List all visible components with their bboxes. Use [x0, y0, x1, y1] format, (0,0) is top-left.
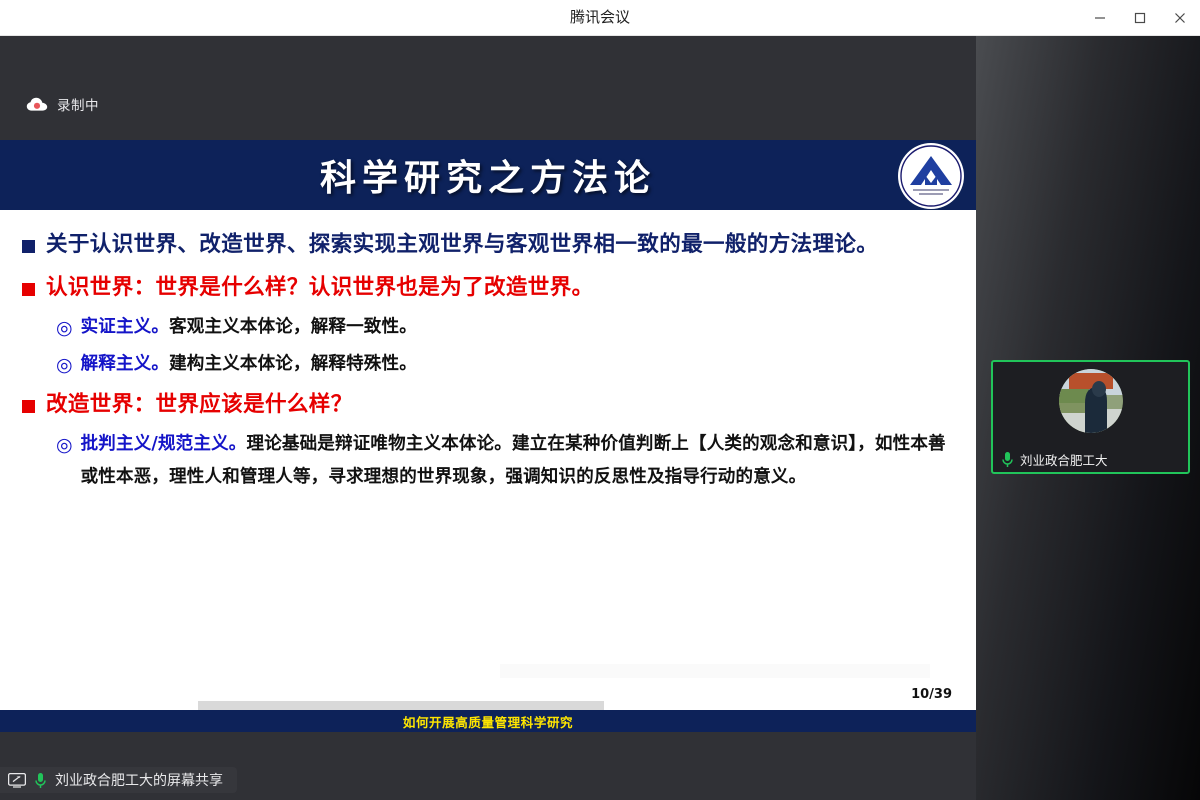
ring-bullet-icon: ◎ [56, 348, 73, 383]
slide-page-number: 10/39 [911, 687, 952, 702]
slide-header: 科学研究之方法论 [0, 140, 976, 212]
slide-title: 科学研究之方法论 [320, 149, 656, 201]
ring-bullet-icon: ◎ [56, 428, 73, 463]
slide-subbullet-text: 实证主义。客观主义本体论，解释一致性。 [81, 311, 417, 343]
title-bar: 腾讯会议 [0, 0, 1200, 36]
slide-bullet: 关于认识世界、改造世界、探索实现主观世界与客观世界相一致的最一般的方法理论。 [22, 226, 954, 264]
subbullet-highlight: 解释主义。 [81, 354, 170, 374]
recording-label: 录制中 [57, 94, 99, 114]
slide-subbullet: ◎ 批判主义/规范主义。理论基础是辩证唯物主义本体论。建立在某种价值判断上【人类… [56, 428, 954, 493]
slide-subbullet-text: 批判主义/规范主义。理论基础是辩证唯物主义本体论。建立在某种价值判断上【人类的观… [81, 428, 954, 493]
slide-footer-text: 如何开展高质量管理科学研究 [403, 712, 573, 731]
screen-share-icon [8, 773, 26, 788]
slide-artifact-bar [500, 664, 930, 678]
bullet-square-icon [22, 226, 35, 247]
shared-screen-region[interactable]: 录制中 科学研究之方法论 [0, 36, 976, 800]
subbullet-rest: 客观主义本体论，解释一致性。 [169, 317, 417, 337]
screen-share-strip[interactable]: 刘业政合肥工大的屏幕共享 [0, 767, 237, 793]
recording-indicator: 录制中 [26, 94, 99, 114]
participant-video-tile[interactable]: 刘业政合肥工大 [991, 360, 1190, 474]
cloud-record-icon [26, 97, 48, 112]
avatar [1059, 369, 1123, 433]
participant-name: 刘业政合肥工大 [1020, 450, 1108, 469]
slide-footer: 如何开展高质量管理科学研究 [0, 710, 976, 732]
maximize-button[interactable] [1120, 0, 1160, 36]
meeting-body: 录制中 科学研究之方法论 [0, 36, 1200, 800]
microphone-icon [34, 772, 47, 789]
slide-bullet-text: 改造世界：世界应该是什么样？ [46, 386, 353, 424]
window-controls [1080, 0, 1200, 36]
slide-subbullet: ◎ 实证主义。客观主义本体论，解释一致性。 [56, 311, 954, 346]
bullet-square-icon [22, 386, 35, 407]
participant-tile-footer: 刘业政合肥工大 [993, 450, 1108, 469]
tencent-meeting-window: 腾讯会议 [0, 0, 1200, 800]
microphone-icon [1001, 451, 1014, 468]
slide-bullet: 认识世界：世界是什么样？认识世界也是为了改造世界。 [22, 269, 954, 307]
university-logo-icon [898, 143, 964, 209]
slide-subbullet: ◎ 解释主义。建构主义本体论，解释特殊性。 [56, 348, 954, 383]
close-button[interactable] [1160, 0, 1200, 36]
bullet-square-icon [22, 269, 35, 290]
slide-body: 关于认识世界、改造世界、探索实现主观世界与客观世界相一致的最一般的方法理论。 认… [0, 212, 976, 732]
slide-bullet-text: 认识世界：世界是什么样？认识世界也是为了改造世界。 [46, 269, 594, 307]
ring-bullet-icon: ◎ [56, 311, 73, 346]
subbullet-rest: 建构主义本体论，解释特殊性。 [169, 354, 417, 374]
subbullet-highlight: 实证主义。 [81, 317, 170, 337]
screen-share-label: 刘业政合肥工大的屏幕共享 [55, 770, 223, 790]
presentation-slide: 科学研究之方法论 关 [0, 140, 976, 732]
subbullet-highlight: 批判主义/规范主义。 [81, 434, 247, 454]
slide-subbullet-text: 解释主义。建构主义本体论，解释特殊性。 [81, 348, 417, 380]
window-title: 腾讯会议 [0, 0, 1200, 36]
slide-bullet-text: 关于认识世界、改造世界、探索实现主观世界与客观世界相一致的最一般的方法理论。 [46, 226, 878, 264]
minimize-button[interactable] [1080, 0, 1120, 36]
slide-bullet: 改造世界：世界应该是什么样？ [22, 386, 954, 424]
